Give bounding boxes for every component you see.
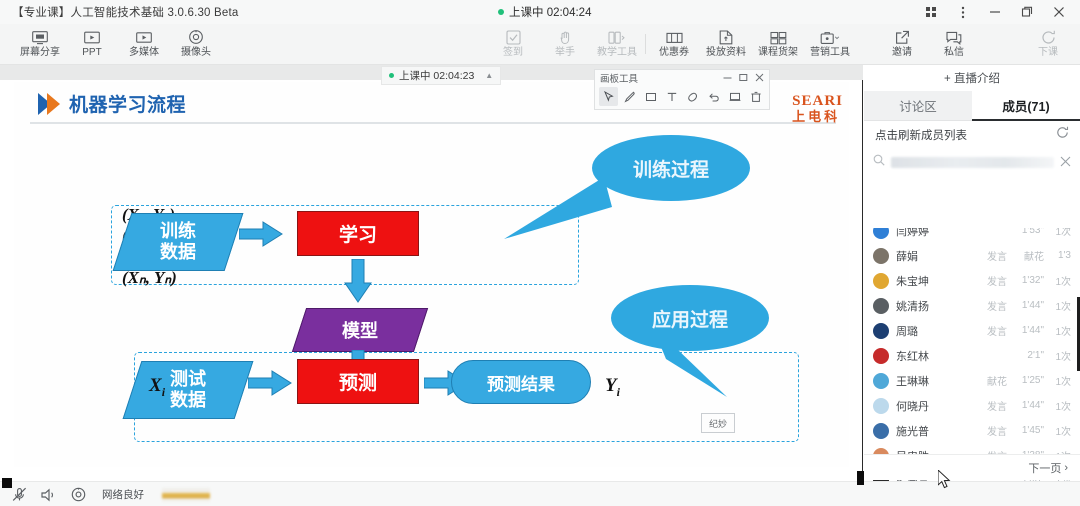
drawing-board-title: 画板工具 [600, 71, 638, 85]
member-tag: 发言 [981, 248, 1007, 263]
mouse-cursor [938, 470, 952, 490]
main-toolbar: 屏幕分享 PPT 多媒体 摄像头 [0, 24, 1080, 65]
restore-icon[interactable] [739, 69, 748, 87]
member-tag: 1'44" [1014, 325, 1044, 336]
avatar [873, 348, 889, 364]
member-tag: 1次 [1051, 298, 1071, 313]
member-tag: 1次 [1051, 348, 1071, 363]
pen-icon[interactable] [620, 87, 639, 106]
search-input[interactable] [891, 157, 1054, 168]
drawing-board-toolbar [595, 86, 769, 106]
direct-message-label: 私信 [944, 47, 964, 59]
end-class-label: 下课 [1038, 47, 1058, 59]
marketing-tools-label: 营销工具 [810, 47, 850, 59]
toolbar-center-group: 签到 举手 教学工具 [487, 26, 643, 59]
minimize-icon[interactable] [723, 69, 732, 87]
avatar [873, 298, 889, 314]
member-meta: 发言1'44"1次 [981, 323, 1071, 338]
brand-logo: SEARI 上电科 [792, 94, 843, 123]
callout-training-process: 训练过程 [592, 135, 750, 201]
trash-icon[interactable] [746, 87, 765, 106]
ppt-label: PPT [82, 47, 101, 59]
member-name: 朱宝坤 [896, 273, 929, 289]
member-meta: 发言献花1'3 [981, 248, 1071, 263]
maximize-icon[interactable] [1012, 0, 1042, 24]
camera-icon[interactable] [71, 487, 86, 502]
eraser-icon[interactable] [683, 87, 702, 106]
member-row[interactable]: 何晓丹发言1'44"1次 [864, 393, 1080, 418]
title-bar: 【专业课】人工智能技术基础 3.0.6.30 Beta 上课中 02:04:24 [0, 0, 1080, 24]
screen-share-icon [32, 29, 48, 46]
send-material-icon [719, 29, 733, 46]
member-tag: 1'45" [1014, 425, 1044, 436]
member-tag: 献花 [1014, 248, 1044, 263]
media-icon [136, 29, 152, 46]
close-icon[interactable] [755, 69, 764, 87]
toolbar-right-group: 优惠券 投放资料 课程货架 营销工具 [648, 26, 856, 59]
chevron-up-icon[interactable]: ▲ [485, 71, 493, 80]
screen-share-button[interactable]: 屏幕分享 [14, 26, 66, 59]
member-name: 周璐 [896, 323, 918, 339]
raise-hand-label: 举手 [555, 47, 575, 59]
double-chevron-icon [38, 93, 60, 115]
member-tag: 献花 [981, 373, 1007, 388]
media-label: 多媒体 [129, 47, 159, 59]
member-row[interactable]: 姚清扬发言1'44"1次 [864, 293, 1080, 318]
live-status-label: 上课中 02:04:24 [509, 4, 591, 20]
arrow-train-to-learn [239, 221, 283, 247]
member-tag: 发言 [981, 323, 1007, 338]
raise-hand-button[interactable]: 举手 [539, 26, 591, 59]
close-icon[interactable] [1060, 155, 1071, 170]
member-row[interactable]: 薛娟发言献花1'3 [864, 243, 1080, 268]
node-predict-result: 预测结果 [451, 360, 591, 404]
arrow-test-to-predict [248, 370, 292, 396]
brand-name-cn: 上电科 [792, 110, 843, 123]
avatar [873, 398, 889, 414]
undo-icon[interactable] [704, 87, 723, 106]
send-material-label: 投放资料 [706, 47, 746, 59]
live-status: 上课中 02:04:24 [498, 4, 591, 20]
cursor-icon[interactable] [599, 87, 618, 106]
marketing-tools-button[interactable]: 营销工具 [804, 26, 856, 59]
node-learn: 学习 [297, 211, 419, 256]
member-row[interactable]: 王琳琳献花1'25"1次 [864, 368, 1080, 393]
bottom-status-bar: 网络良好 中 简 [0, 481, 1080, 506]
avatar [873, 273, 889, 289]
coupon-label: 优惠券 [659, 47, 689, 59]
media-button[interactable]: 多媒体 [118, 26, 170, 59]
teaching-tools-label: 教学工具 [597, 47, 637, 59]
member-meta: 发言1'45"1次 [981, 423, 1071, 438]
right-panel-tabs: 讨论区 成员(71) [864, 91, 1080, 121]
avatar [873, 248, 889, 264]
member-tag: 发言 [981, 423, 1007, 438]
node-train-data: 训练数据 [113, 213, 244, 271]
camera-icon [188, 29, 204, 46]
member-meta: 献花1'25"1次 [981, 373, 1071, 388]
coupon-icon [666, 29, 683, 46]
member-tag: 1次 [1051, 323, 1071, 338]
member-name: 薛娟 [896, 248, 918, 264]
drawing-board-window[interactable]: 画板工具 [594, 69, 770, 110]
timer-label: 上课中 02:04:23 [399, 68, 474, 83]
tab-members[interactable]: 成员(71) [972, 91, 1080, 121]
coupon-button[interactable]: 优惠券 [648, 26, 700, 59]
teaching-tools-icon [608, 29, 626, 46]
camera-button[interactable]: 摄像头 [170, 26, 222, 59]
presentation-stage: 机器学习流程 SEARI 上电科 (X₁, Y₁) (X₂, Y₂) … (Xₙ… [0, 65, 863, 480]
member-row[interactable]: 闫婷婷1'53"1次 [864, 228, 1080, 243]
slide-canvas[interactable]: 机器学习流程 SEARI 上电科 (X₁, Y₁) (X₂, Y₂) … (Xₙ… [14, 82, 849, 467]
tab-discussion[interactable]: 讨论区 [864, 91, 972, 121]
window-controls [916, 0, 1074, 24]
callout-applying-label: 应用过程 [652, 305, 728, 332]
avatar [873, 228, 889, 239]
node-model: 模型 [292, 308, 428, 352]
checkin-icon [506, 29, 521, 46]
node-predict: 预测 [297, 359, 419, 404]
member-tag: 发言 [981, 398, 1007, 413]
ppt-button[interactable]: PPT [66, 26, 118, 59]
member-meta: 1'53"1次 [981, 228, 1071, 238]
chevron-right-icon: › [1064, 462, 1068, 474]
direct-message-button[interactable]: 私信 [928, 26, 980, 59]
member-row[interactable]: 周璐发言1'44"1次 [864, 318, 1080, 343]
live-intro-link[interactable]: + 直播介绍 [864, 65, 1080, 91]
avatar [873, 373, 889, 389]
member-name: 闫婷婷 [896, 228, 929, 239]
member-name: 王琳琳 [896, 373, 929, 389]
end-class-icon [1041, 29, 1056, 46]
variable-input: Xi [149, 375, 165, 400]
member-tag: 发言 [981, 298, 1007, 313]
member-row[interactable]: 施光普发言1'45"1次 [864, 418, 1080, 443]
member-tag: 1'3 [1051, 250, 1071, 261]
square-icon[interactable] [641, 87, 660, 106]
invite-icon [895, 29, 910, 46]
checkin-label: 签到 [503, 47, 523, 59]
slide-header: 机器学习流程 [38, 90, 186, 117]
member-tag: 发言 [981, 273, 1007, 288]
drawing-board-window-controls [723, 69, 764, 87]
live-dot-icon [498, 9, 504, 15]
minimize-icon[interactable] [980, 0, 1010, 24]
timer-dot-icon [389, 73, 394, 78]
send-material-button[interactable]: 投放资料 [700, 26, 752, 59]
member-row[interactable]: 朱宝坤发言1'32"1次 [864, 268, 1080, 293]
end-class-button[interactable]: 下课 [1022, 26, 1074, 59]
slide-title: 机器学习流程 [69, 90, 186, 117]
bottom-left-group: 网络良好 [12, 482, 210, 506]
refresh-member-list[interactable]: 点击刷新成员列表 [864, 121, 1080, 149]
node-test-data: 测试数据 [123, 361, 254, 419]
member-row[interactable]: 东红林2'1"1次 [864, 343, 1080, 368]
member-meta: 2'1"1次 [981, 348, 1071, 363]
callout-applying-process: 应用过程 [611, 285, 769, 351]
board-icon[interactable] [725, 87, 744, 106]
course-shelf-label: 课程货架 [758, 47, 798, 59]
toolbar-far-group: 邀请 私信 [876, 26, 980, 59]
member-tag: 1次 [1051, 373, 1071, 388]
member-tag: 1次 [1051, 423, 1071, 438]
app-window: 【专业课】人工智能技术基础 3.0.6.30 Beta 上课中 02:04:24 [0, 0, 1080, 506]
search-icon [873, 153, 885, 171]
arrow-learn-to-model [344, 259, 372, 303]
toolbar-divider-1 [645, 34, 646, 54]
member-tag: 1次 [1051, 228, 1071, 238]
class-timer-pill[interactable]: 上课中 02:04:23 ▲ [381, 66, 501, 85]
member-tag: 2'1" [1014, 350, 1044, 361]
brand-name-en: SEARI [792, 94, 843, 109]
member-tag: 1'32" [1014, 275, 1044, 286]
grid-icon[interactable] [916, 0, 946, 24]
course-shelf-button[interactable]: 课程货架 [752, 26, 804, 59]
member-tag: 1'25" [1014, 375, 1044, 386]
marketing-tools-icon [820, 29, 840, 46]
mic-muted-icon[interactable] [12, 487, 27, 502]
refresh-icon[interactable] [1056, 126, 1069, 144]
toolbar-end-group: 下课 [1022, 26, 1074, 59]
ppt-icon [84, 29, 100, 46]
window-title: 【专业课】人工智能技术基础 3.0.6.30 Beta [12, 4, 239, 20]
member-meta: 发言1'32"1次 [981, 273, 1071, 288]
member-meta: 发言1'44"1次 [981, 298, 1071, 313]
direct-message-icon [946, 29, 962, 46]
callout-tail-training [504, 177, 624, 247]
member-name: 何晓丹 [896, 398, 929, 414]
next-page-label: 下一页 [1028, 460, 1061, 476]
invite-label: 邀请 [892, 47, 912, 59]
member-tag: 1次 [1051, 273, 1071, 288]
right-panel: + 直播介绍 讨论区 成员(71) 点击刷新成员列表 闫婷婷1'53"1次薛娟发… [864, 65, 1080, 480]
raise-hand-icon [558, 29, 573, 46]
close-icon[interactable] [1044, 0, 1074, 24]
toolbar-left-group: 屏幕分享 PPT 多媒体 摄像头 [14, 26, 222, 59]
speaker-icon[interactable] [41, 488, 57, 502]
network-status-label: 网络良好 [102, 487, 144, 502]
avatar [873, 323, 889, 339]
variable-output: Yi [605, 375, 620, 400]
member-tag: 1次 [1051, 398, 1071, 413]
member-meta: 发言1'44"1次 [981, 398, 1071, 413]
corner-marker-left [2, 478, 12, 488]
checkin-button[interactable]: 签到 [487, 26, 539, 59]
blurred-badge [162, 488, 210, 502]
member-name: 施光普 [896, 423, 929, 439]
corner-marker-right [857, 471, 864, 485]
avatar [873, 423, 889, 439]
member-tag: 1'44" [1014, 400, 1044, 411]
member-tag: 1'44" [1014, 300, 1044, 311]
next-page-button[interactable]: 下一页 › [864, 454, 1080, 480]
course-shelf-icon [770, 29, 787, 46]
callout-training-label: 训练过程 [633, 155, 709, 182]
slide-title-rule [30, 122, 836, 124]
screen-share-label: 屏幕分享 [20, 47, 60, 59]
drawing-board-header: 画板工具 [595, 70, 769, 86]
more-icon[interactable] [948, 0, 978, 24]
camera-label: 摄像头 [181, 47, 211, 59]
refresh-label: 点击刷新成员列表 [875, 127, 967, 143]
annotation-name-tag: 纪妙 [701, 413, 735, 433]
teaching-tools-button[interactable]: 教学工具 [591, 26, 643, 59]
member-name: 东红林 [896, 348, 929, 364]
member-name: 姚清扬 [896, 298, 929, 314]
text-icon[interactable] [662, 87, 681, 106]
member-search-row[interactable] [873, 149, 1071, 175]
member-tag: 1'53" [1014, 228, 1044, 236]
invite-button[interactable]: 邀请 [876, 26, 928, 59]
